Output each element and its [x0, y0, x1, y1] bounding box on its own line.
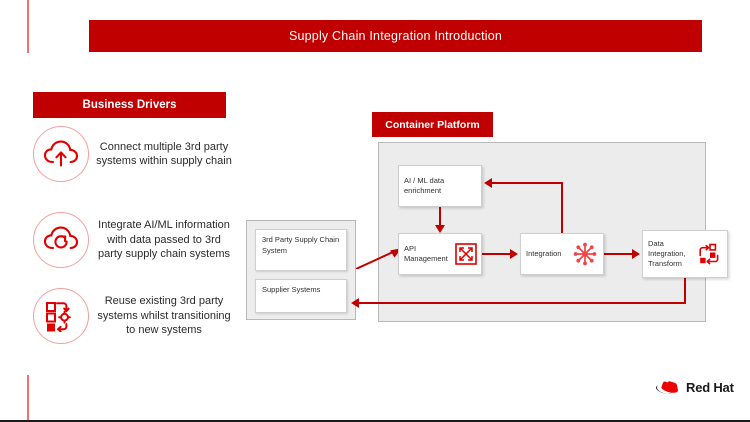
- system-box-third-party: 3rd Party Supply Chain System: [255, 229, 347, 271]
- flow-box-label: Integration: [521, 249, 572, 259]
- connector-data-to-supplier-arrow: [351, 298, 359, 308]
- connector-api-to-integration-arrow: [510, 249, 518, 259]
- connector-integration-to-aiml-arrow: [484, 178, 492, 188]
- reuse-systems-icon: [33, 288, 89, 344]
- driver-text: Connect multiple 3rd party systems withi…: [89, 140, 233, 169]
- flow-box-label: AI / ML data enrichment: [399, 176, 481, 196]
- flow-box-data-integration: Data Integration, Transform: [642, 230, 728, 278]
- flow-box-aiml: AI / ML data enrichment: [398, 165, 482, 207]
- connector-integration-to-data-arrow: [632, 249, 640, 259]
- accent-rule-bottom: [27, 375, 29, 420]
- driver-item-connect: Connect multiple 3rd party systems withi…: [33, 126, 233, 182]
- driver-text: Integrate AI/ML information with data pa…: [89, 218, 233, 262]
- integration-hub-icon: [572, 241, 598, 267]
- flow-box-integration: Integration: [520, 233, 604, 275]
- red-hat-logo: Red Hat: [655, 378, 734, 396]
- red-hat-fedora-icon: [655, 378, 681, 396]
- connector-data-to-supplier-horizontal: [359, 302, 686, 304]
- driver-item-integrate: Integrate AI/ML information with data pa…: [33, 212, 233, 268]
- connector-data-to-supplier-vertical: [684, 278, 686, 304]
- connector-thirdparty-to-api: [356, 247, 402, 269]
- api-management-icon: [453, 241, 479, 267]
- connector-aiml-to-api-line: [439, 207, 441, 225]
- connector-integration-to-aiml-horizontal: [492, 182, 563, 184]
- connector-integration-to-data-line: [604, 253, 632, 255]
- data-transform-icon: [696, 241, 722, 267]
- cloud-sync-icon: [33, 212, 89, 268]
- business-drivers-header: Business Drivers: [33, 92, 226, 118]
- driver-text: Reuse existing 3rd party systems whilst …: [89, 294, 233, 338]
- slide-title: Supply Chain Integration Introduction: [89, 20, 702, 52]
- connector-api-to-integration-line: [482, 253, 510, 255]
- accent-rule-top: [27, 0, 29, 53]
- slide-canvas: Supply Chain Integration Introduction Bu…: [0, 0, 750, 422]
- connector-aiml-to-api-arrow: [435, 225, 445, 233]
- driver-item-reuse: Reuse existing 3rd party systems whilst …: [33, 288, 233, 344]
- red-hat-wordmark: Red Hat: [686, 380, 734, 395]
- container-platform-header: Container Platform: [372, 112, 493, 137]
- flow-box-label: Data Integration, Transform: [643, 239, 696, 269]
- flow-box-label: API Management: [399, 244, 453, 264]
- flow-box-api-management: API Management: [398, 233, 482, 275]
- system-box-supplier: Supplier Systems: [255, 279, 347, 313]
- connector-integration-to-aiml-vertical: [561, 182, 563, 234]
- external-systems-group: 3rd Party Supply Chain System Supplier S…: [246, 220, 356, 320]
- cloud-upload-icon: [33, 126, 89, 182]
